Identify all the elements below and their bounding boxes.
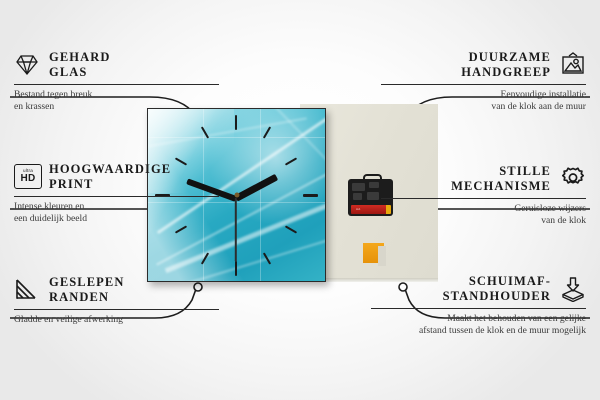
hour-marker bbox=[303, 194, 318, 197]
gear-icon bbox=[560, 166, 586, 192]
feather-streak bbox=[232, 108, 326, 178]
feature-description: Gladde en veilige afwerking bbox=[14, 314, 219, 326]
hand-pivot bbox=[234, 193, 239, 198]
movement-detail bbox=[352, 183, 365, 191]
grid-line bbox=[148, 137, 325, 138]
hour-marker bbox=[235, 115, 237, 130]
feature-title: DUURZAMEHANDGREEP bbox=[461, 50, 551, 80]
feature-schuimafstandhouder: SCHUIMAF-STANDHOUDER Maakt het behouden … bbox=[371, 274, 586, 337]
movement-detail bbox=[367, 192, 379, 200]
grid-line bbox=[260, 109, 261, 281]
stack-down-arrow-icon bbox=[560, 276, 586, 302]
feature-description: Maakt het behouden van een gelijkeafstan… bbox=[371, 313, 586, 337]
feature-title: SCHUIMAF-STANDHOUDER bbox=[443, 274, 551, 304]
foam-spacer bbox=[363, 243, 384, 263]
feature-description: Geruisloze wijzersvan de klok bbox=[381, 203, 586, 227]
battery-label: AA bbox=[356, 207, 361, 211]
feature-gehard-glas: GEHARDGLAS Bestand tegen breuken krassen bbox=[14, 50, 219, 113]
feature-duurzame-handgreep: DUURZAMEHANDGREEP Eenvoudige installatie… bbox=[381, 50, 586, 113]
movement-detail bbox=[369, 182, 379, 188]
feature-title: STILLEMECHANISME bbox=[451, 164, 551, 194]
feature-description: Bestand tegen breuken krassen bbox=[14, 89, 219, 113]
divider bbox=[14, 309, 219, 310]
divider bbox=[14, 84, 219, 85]
divider bbox=[371, 308, 586, 309]
divider bbox=[381, 198, 586, 199]
feature-title: HOOGWAARDIGEPRINT bbox=[49, 162, 171, 192]
ultra-hd-big-label: HD bbox=[20, 174, 35, 184]
infographic-canvas: AA GEHARDGLAS Bestand tegen breuken kras… bbox=[0, 0, 600, 400]
diamond-icon bbox=[14, 52, 40, 78]
feature-stille-mechanisme: STILLEMECHANISME Geruisloze wijzersvan d… bbox=[381, 164, 586, 227]
hour-marker bbox=[175, 225, 187, 233]
feature-description: Eenvoudige installatievan de klok aan de… bbox=[381, 89, 586, 113]
feature-title: GESLEPENRANDEN bbox=[49, 275, 125, 305]
divider bbox=[381, 84, 586, 85]
movement-detail bbox=[353, 193, 362, 200]
feature-geslepen-randen: GESLEPENRANDEN Gladde en veilige afwerki… bbox=[14, 275, 219, 326]
feature-title: GEHARDGLAS bbox=[49, 50, 110, 80]
feature-hoogwaardige-print: ultra HD HOOGWAARDIGEPRINT Intense kleur… bbox=[14, 162, 219, 225]
second-hand bbox=[235, 198, 237, 262]
hour-marker bbox=[235, 261, 237, 276]
divider bbox=[14, 196, 219, 197]
ultra-hd-icon: ultra HD bbox=[14, 164, 40, 190]
framed-picture-icon bbox=[560, 52, 586, 78]
feature-description: Intense kleuren eneen duidelijk beeld bbox=[14, 201, 219, 225]
hour-marker bbox=[285, 225, 297, 233]
hour-marker bbox=[285, 157, 297, 165]
beveled-edge-icon bbox=[14, 277, 40, 303]
